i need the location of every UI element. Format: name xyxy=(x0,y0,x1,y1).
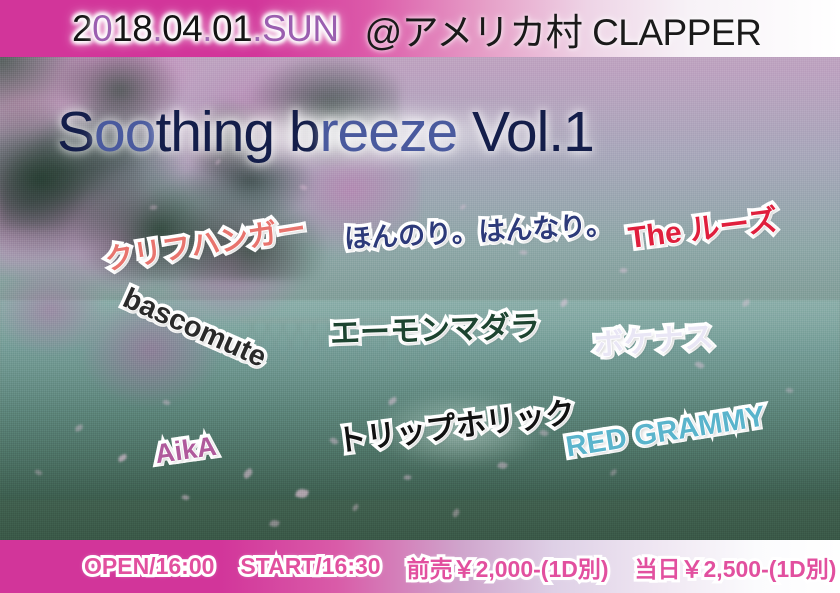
lineup-band-name: クリフハンガー xyxy=(103,214,308,276)
band-label: bascomute xyxy=(118,282,271,374)
petal-icon xyxy=(451,508,461,518)
petal-icon xyxy=(559,298,569,307)
band-label: ほんのり。はんなり。 xyxy=(343,210,613,254)
date-segment: . xyxy=(252,8,262,49)
date-segment: 18 xyxy=(112,8,152,49)
petal-icon xyxy=(609,469,617,476)
title-segment: oo xyxy=(94,100,155,164)
petal-icon xyxy=(741,299,751,307)
lineup-band-name: ボケナス xyxy=(593,322,715,362)
footer-info-item: OPEN/16:00 xyxy=(84,553,214,580)
footer-info-item: 当日￥2,500-(1D別) xyxy=(635,550,837,584)
lineup-band-name: エーモンマダラ xyxy=(330,311,541,350)
petal-icon xyxy=(403,474,411,481)
event-title: Soothing breeze Vol.1 xyxy=(57,99,594,165)
lineup-band-name: ほんのり。はんなり。 xyxy=(343,211,613,253)
petal-icon xyxy=(519,249,527,256)
lineup-band-name: The ルーズ xyxy=(627,205,780,255)
petal-icon xyxy=(295,488,309,500)
date-segment: . xyxy=(202,8,212,49)
band-label: The ルーズ xyxy=(627,204,780,255)
band-label: ボケナス xyxy=(593,321,715,362)
petal-icon xyxy=(74,424,83,432)
petal-icon xyxy=(497,460,508,470)
petal-icon xyxy=(299,183,308,191)
event-flyer: 2018.04.01.SUN @アメリカ村 CLAPPER Soothing b… xyxy=(0,0,840,593)
band-label: トリップホリック xyxy=(335,397,577,459)
petal-icon xyxy=(181,494,190,502)
footer-info-item: 前売￥2,000-(1D別) xyxy=(407,550,609,584)
petal-icon xyxy=(242,468,254,479)
lineup-band-name: RED GRAMMY xyxy=(564,401,768,463)
footer-bar: OPEN/16:00START/16:30前売￥2,000-(1D別)当日￥2,… xyxy=(0,540,840,593)
title-segment: S xyxy=(57,100,94,164)
event-date: 2018.04.01.SUN xyxy=(72,8,339,50)
petal-icon xyxy=(269,519,280,529)
band-label: クリフハンガー xyxy=(103,213,309,276)
petal-icon xyxy=(619,267,627,274)
petal-icon xyxy=(117,454,128,463)
petal-icon xyxy=(162,398,171,406)
petal-icon xyxy=(459,204,466,210)
lineup-band-name: AikA xyxy=(153,432,218,469)
date-segment: 01 xyxy=(212,8,252,49)
petal-icon xyxy=(785,387,794,395)
petal-icon xyxy=(351,503,360,511)
header-bar: 2018.04.01.SUN @アメリカ村 CLAPPER xyxy=(0,0,840,57)
date-segment: 0 xyxy=(92,8,112,49)
band-label: AikA xyxy=(153,431,218,469)
title-segment: Vol.1 xyxy=(457,100,594,164)
band-label: RED GRAMMY xyxy=(564,400,768,463)
petal-icon xyxy=(149,204,157,211)
date-segment: 04 xyxy=(162,8,202,49)
event-venue: @アメリカ村 CLAPPER xyxy=(365,2,762,56)
petal-icon xyxy=(694,360,705,370)
band-label: エーモンマダラ xyxy=(329,310,540,350)
title-segment: thing b xyxy=(155,100,319,164)
date-segment: . xyxy=(152,8,162,49)
lineup-band-name: bascomute xyxy=(118,283,270,373)
title-segment: reeze xyxy=(320,100,458,164)
petal-icon xyxy=(387,396,398,405)
date-segment: 2 xyxy=(72,8,92,49)
lineup-band-name: トリップホリック xyxy=(335,397,577,458)
date-segment: SUN xyxy=(262,8,339,49)
footer-info-item: START/16:30 xyxy=(240,553,380,580)
petal-icon xyxy=(34,468,42,476)
